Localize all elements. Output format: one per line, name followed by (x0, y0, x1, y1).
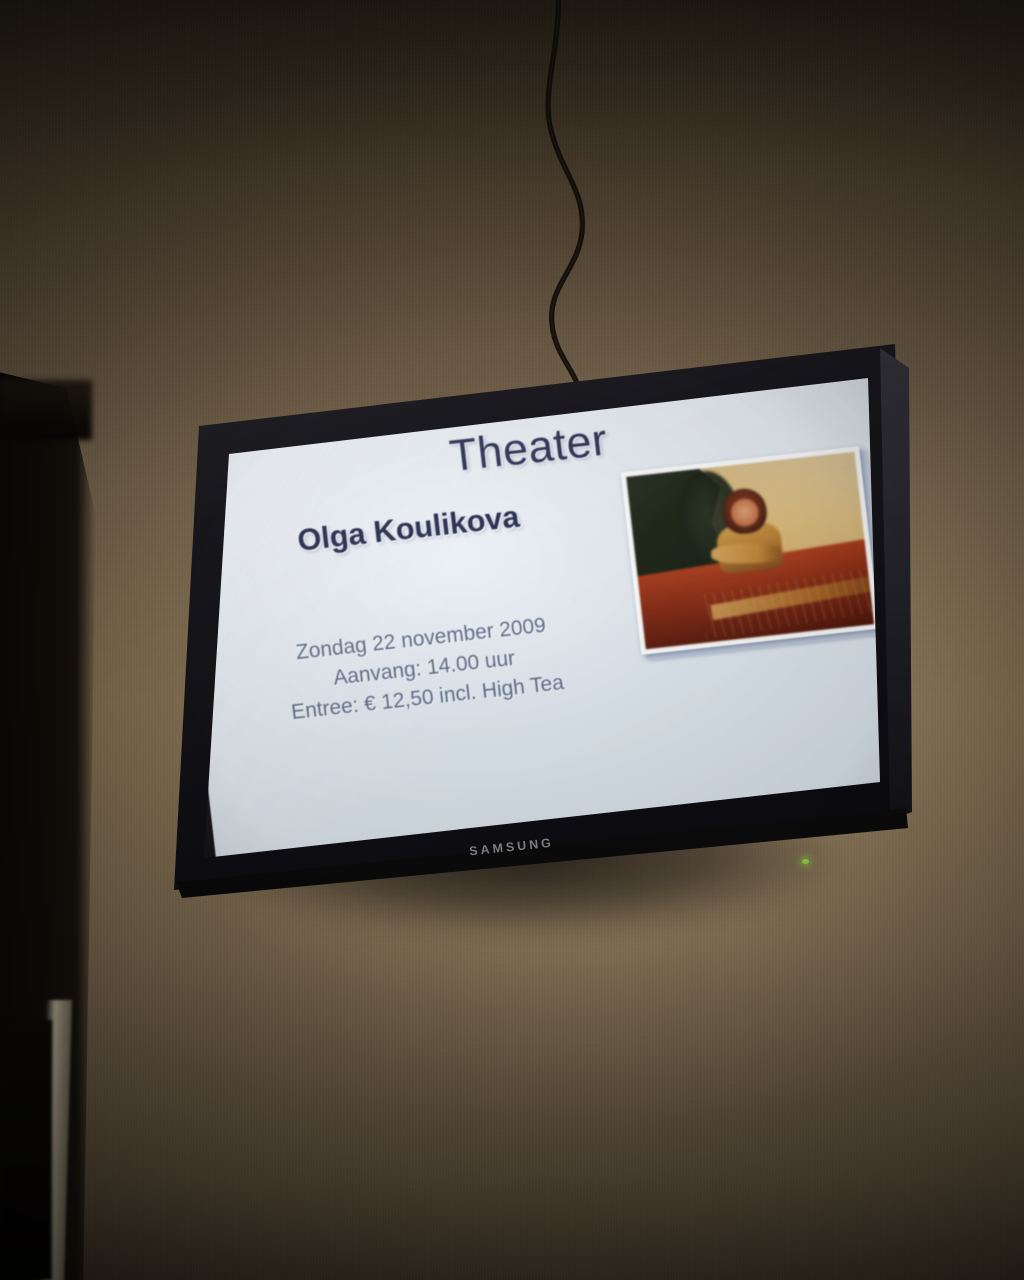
room-scene: deBoodschap Cultureel Centrum Theater Ol… (0, 0, 1024, 1280)
photo-vignette (0, 0, 1024, 1280)
